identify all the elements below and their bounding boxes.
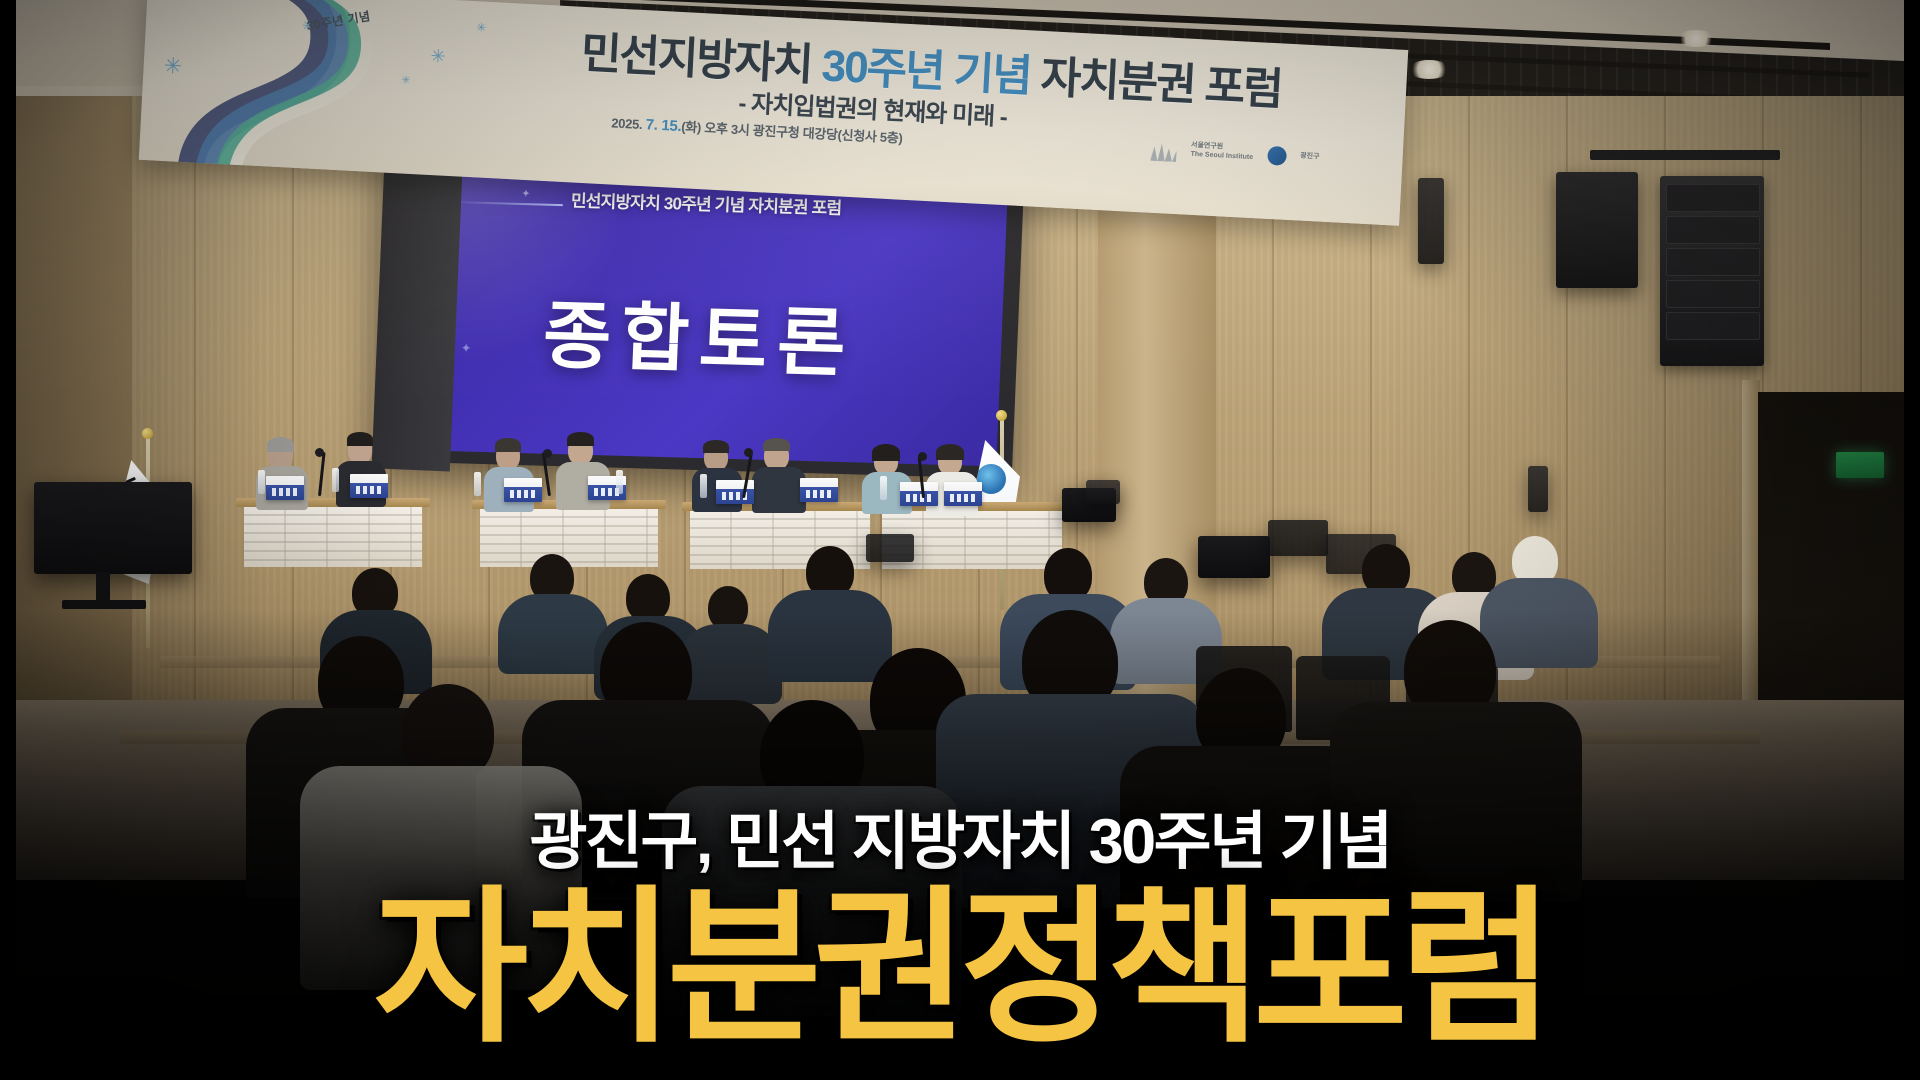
- sparkle-icon: ✳: [476, 21, 487, 34]
- flagpole-knob: [142, 428, 153, 439]
- panel-nameplate: [900, 482, 938, 506]
- pillarbox-left: [0, 0, 16, 1080]
- ceiling-downlight: [1408, 60, 1450, 79]
- banner-date-day: 7. 15.: [645, 116, 682, 135]
- wall-speaker: [1418, 178, 1444, 264]
- panel-nameplate: [944, 482, 982, 506]
- panel-nameplate: [350, 474, 388, 498]
- water-bottle: [700, 474, 707, 498]
- banner-date-year: 2025.: [611, 115, 643, 132]
- microphone-head: [744, 448, 753, 457]
- panel-table-skirt: [480, 509, 658, 567]
- broadcast-frame: ✦ ✦ ✦ ✦ 민선지방자치 30주년 기념 자치분권 포럼 종합토론 ✳: [0, 0, 1920, 1080]
- panel-nameplate: [266, 476, 304, 500]
- water-bottle: [880, 476, 887, 500]
- panel-nameplate: [800, 478, 838, 502]
- water-bottle: [474, 472, 481, 496]
- wall-speaker: [1556, 172, 1638, 288]
- banner-logos: 서울연구원 The Seoul Institute 광진구: [1150, 137, 1320, 170]
- audience-shoulders: [678, 624, 782, 704]
- caption-title: 자치분권정책포럼: [0, 884, 1920, 1052]
- sparkle-icon: ✳: [401, 75, 411, 86]
- logo-primary-sub-label: The Seoul Institute: [1190, 151, 1253, 163]
- ceiling-downlight: [1676, 30, 1716, 47]
- microphone-head: [543, 449, 552, 458]
- audience-shoulders: [768, 590, 892, 682]
- microphone-head: [918, 452, 927, 461]
- flagpole-knob: [996, 410, 1007, 421]
- pillarbox-right: [1904, 0, 1920, 1080]
- seoul-institute-logo-icon: [1150, 137, 1177, 162]
- water-bottle: [332, 468, 339, 492]
- laptop-screen: [1268, 520, 1328, 556]
- speaker-rigging: [1590, 150, 1780, 160]
- slide-headline: 종합토론: [395, 272, 1003, 396]
- water-bottle: [258, 470, 265, 494]
- banner-date-weekday: (화): [681, 119, 701, 135]
- lower-third-caption: 광진구, 민선 지방자치 30주년 기념 자치분권정책포럼: [0, 807, 1920, 1080]
- seoul-institute-logo-text: 서울연구원 The Seoul Institute: [1190, 142, 1253, 163]
- audience-shoulders: [1480, 578, 1598, 668]
- camera-body: [1086, 480, 1120, 504]
- sparkle-icon: ✳: [163, 55, 183, 78]
- gwangjin-gu-logo-icon: [1267, 145, 1287, 165]
- microphone-head: [315, 448, 324, 457]
- sparkle-icon: ✳: [430, 47, 446, 66]
- caption-subtitle: 광진구, 민선 지방자치 30주년 기념: [0, 807, 1920, 878]
- banner-title-tail: 자치분권 포럼: [1040, 53, 1283, 115]
- panel-table-skirt: [244, 507, 422, 567]
- gwangjin-gu-logo-text: 광진구: [1300, 152, 1320, 162]
- panel-nameplate: [716, 480, 754, 504]
- line-array-speaker: [1660, 176, 1764, 366]
- banner-wave-graphic: [166, 0, 428, 188]
- banner-title-main: 민선지방자치: [580, 29, 813, 90]
- audience-head: [626, 574, 670, 622]
- sparkle-icon: ✦: [521, 189, 531, 200]
- water-bottle: [616, 470, 623, 494]
- wall-speaker: [1528, 466, 1548, 512]
- audience-shoulders: [498, 594, 608, 674]
- panel-nameplate: [504, 478, 542, 502]
- laptop-screen: [866, 534, 914, 562]
